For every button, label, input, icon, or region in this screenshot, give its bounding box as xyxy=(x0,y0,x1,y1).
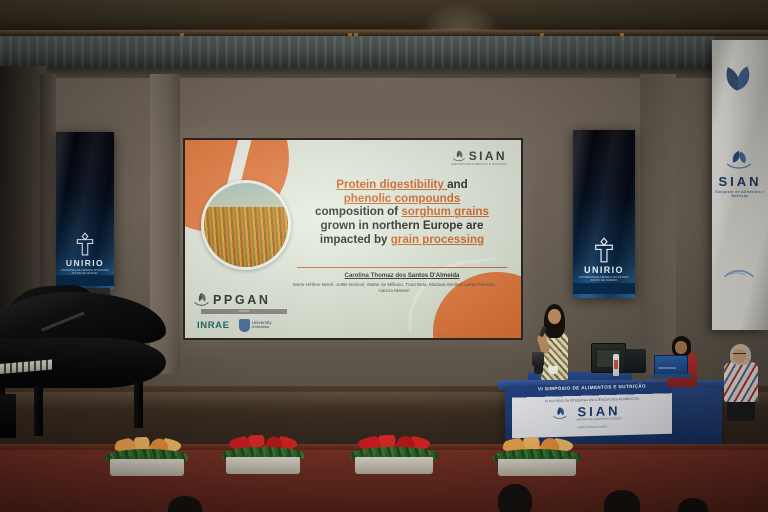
title-highlight: sorghum grains xyxy=(401,205,489,218)
panelist-face xyxy=(675,341,687,354)
piano-leg xyxy=(134,382,143,428)
sian-leaf-mark-icon xyxy=(724,148,754,170)
water-bottle xyxy=(613,354,619,376)
unirio-banner-name: UNIRIO xyxy=(584,265,624,275)
event-table-banner: VI SIMPÓSIO DE ALIMENTOS E NUTRIÇÃO O FU… xyxy=(512,382,672,438)
audience-head xyxy=(604,490,640,512)
planter-red-2 xyxy=(355,438,433,474)
planter-box xyxy=(226,457,300,474)
title-highlight: grain processing xyxy=(391,233,484,246)
sian-leaf-mark-icon xyxy=(452,149,466,163)
title-highlight: phenolic compounds xyxy=(344,192,461,205)
presentation-slide: SIAN SIMPÓSIO DE ALIMENTOS E NUTRIÇÃO Pr… xyxy=(185,140,521,338)
audience-head xyxy=(498,484,532,512)
inrae-logo: INRAE xyxy=(197,320,230,331)
panelist-torso xyxy=(724,362,758,402)
slide-title: Protein digestibility and phenolic compo… xyxy=(293,178,511,246)
sian-banner-tagline: Simpósio de Alimentos e Nutrição xyxy=(712,190,768,198)
photo-sorghum-crop xyxy=(204,207,288,267)
speaker-face xyxy=(548,309,561,324)
unirio-emblem-icon xyxy=(74,232,96,256)
slide-title-line-4: grown in northern Europe are xyxy=(293,219,511,233)
unirio-banner-left: UNIRIO UNIVERSIDADE FEDERAL DO ESTADO DO… xyxy=(56,132,114,290)
sian-logo-tagline: SIMPÓSIO DE ALIMENTOS E NUTRIÇÃO xyxy=(451,163,507,166)
laptop xyxy=(654,355,688,379)
leaf-icon xyxy=(721,62,755,96)
ppgan-leaf-icon xyxy=(193,291,210,308)
unirio-emblem-icon xyxy=(592,237,616,263)
slide-title-line-3: composition of sorghum grains xyxy=(293,205,511,219)
ppgan-logo-sub: UNIRIO xyxy=(239,309,250,314)
piano-bench xyxy=(0,394,16,438)
laptop-screen xyxy=(654,355,688,375)
ppgan-logo-word: PPGAN xyxy=(213,293,270,307)
stage-curtain-valance xyxy=(0,36,715,68)
sorghum-field-photo xyxy=(201,180,291,270)
slide-decor-arc xyxy=(402,257,502,332)
slide-title-line-2: phenolic compounds xyxy=(293,192,511,206)
panelist-legs xyxy=(727,399,755,421)
eyeglasses-icon xyxy=(733,353,746,356)
conference-hall-photo: SIAN Simpósio de Alimentos e Nutrição UN… xyxy=(0,0,768,512)
sian-banner-word: SIAN xyxy=(712,174,768,189)
ppgan-logo-bar: UNIRIO xyxy=(201,309,287,314)
banner-footer-strip xyxy=(573,283,635,294)
ceiling xyxy=(0,0,768,33)
manitoba-line-2: of Manitoba xyxy=(252,326,272,330)
slide-presenter-name: Carolina Thomaz dos Santos D'Almeida xyxy=(293,272,511,279)
shield-icon xyxy=(239,319,250,332)
panelist-two xyxy=(723,344,763,424)
planter-box xyxy=(110,459,184,476)
slide-title-line-5: impacted by grain processing xyxy=(293,233,511,247)
photo-sky xyxy=(204,183,288,208)
podium-items xyxy=(534,352,564,374)
slide-coauthors: Marie-Hélène Morel, Joëlle Bonicel, Walt… xyxy=(285,282,503,294)
projection-screen: SIAN SIMPÓSIO DE ALIMENTOS E NUTRIÇÃO Pr… xyxy=(183,138,523,340)
manitoba-logo-text: University of Manitoba xyxy=(252,321,272,329)
laptop-keyboard xyxy=(652,374,692,378)
planter-orange-2 xyxy=(498,440,576,476)
equipment-case-secondary xyxy=(624,349,646,373)
slide-divider-rule xyxy=(297,267,507,268)
piano-leg xyxy=(34,386,43,436)
table-banner-sponsors: UNIRIO PPGAN CAPES xyxy=(512,423,672,431)
unirio-banner-right: UNIRIO UNIVERSIDADE FEDERAL DO ESTADO DO… xyxy=(573,130,635,298)
cup-dark xyxy=(534,364,543,374)
unirio-banner-subtitle: UNIVERSIDADE FEDERAL DO ESTADO DO RIO DE… xyxy=(57,269,113,275)
partner-logos: INRAE University of Manitoba xyxy=(197,319,272,332)
wall-pillar xyxy=(640,74,676,374)
piano-lid xyxy=(0,292,166,344)
unirio-banner-name: UNIRIO xyxy=(66,258,104,268)
ppgan-logo: PPGAN xyxy=(193,291,270,308)
unirio-banner-subtitle: UNIVERSIDADE FEDERAL DO ESTADO DO RIO DE… xyxy=(574,276,634,282)
planter-red-1 xyxy=(226,438,300,474)
planter-box xyxy=(498,459,576,476)
sian-vertical-banner: SIAN Simpósio de Alimentos e Nutrição xyxy=(712,40,768,330)
equipment-case xyxy=(591,343,626,373)
planter-box xyxy=(355,457,433,474)
planter-orange-1 xyxy=(110,440,184,476)
slide-title-line-1: Protein digestibility and xyxy=(293,178,511,192)
panelist-face xyxy=(733,349,746,363)
manitoba-logo: University of Manitoba xyxy=(239,319,272,332)
decorative-vine-icon xyxy=(723,262,755,282)
sian-logo-slide: SIAN xyxy=(452,149,507,163)
sian-logo-word: SIAN xyxy=(469,149,507,163)
cup-white xyxy=(548,366,558,374)
title-highlight: Protein digestibility xyxy=(336,178,447,191)
